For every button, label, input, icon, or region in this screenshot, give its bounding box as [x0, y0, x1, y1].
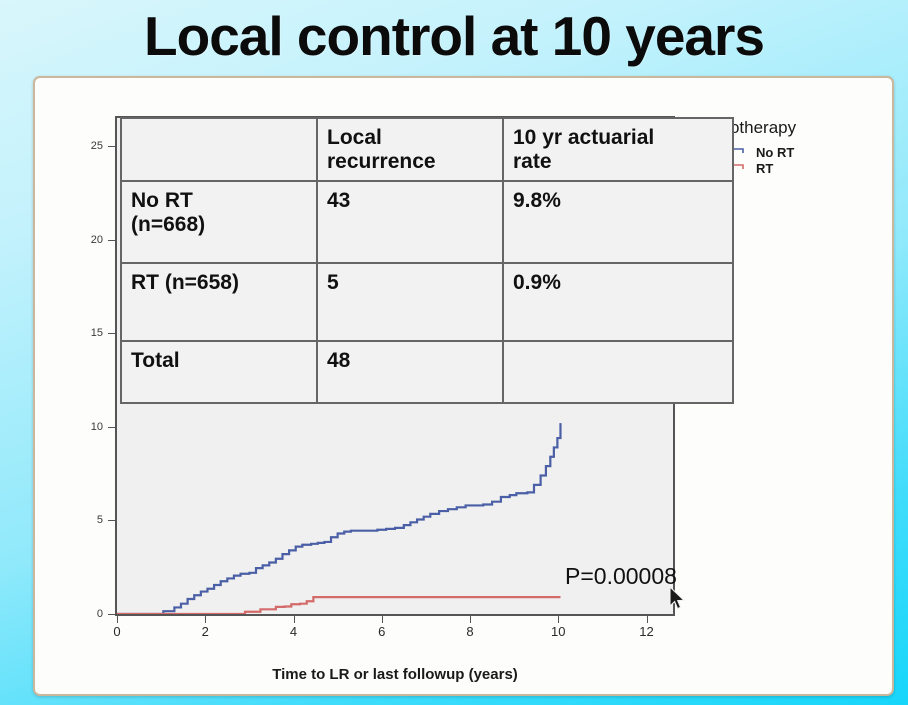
- x-tick-mark: [117, 616, 118, 623]
- header-line-2: recurrence: [327, 150, 436, 173]
- table-header-actuarial-rate: 10 yr actuarial rate: [503, 118, 733, 181]
- row-local-recurrence: 5: [317, 263, 503, 341]
- header-line-1: 10 yr actuarial: [513, 126, 654, 149]
- row-local-recurrence: 48: [317, 341, 503, 403]
- row-actuarial-rate: [503, 341, 733, 403]
- x-tick-label: 0: [104, 624, 130, 639]
- table-header-group: [121, 118, 317, 181]
- y-axis-title: Cumulative failure (%): [33, 196, 34, 333]
- x-tick-label: 8: [457, 624, 483, 639]
- y-tick-label: 25: [77, 140, 103, 152]
- slide-content-card: Cumulative failure (%) 0510152025 024681…: [33, 76, 894, 696]
- y-tick-label: 10: [77, 421, 103, 433]
- p-value-annotation: P=0.00008: [565, 563, 677, 590]
- results-table: Local recurrence 10 yr actuarial rate No…: [120, 117, 734, 404]
- series-line-no-rt: [117, 423, 560, 614]
- x-tick-mark: [647, 616, 648, 623]
- x-tick-label: 4: [281, 624, 307, 639]
- legend-item-label: RT: [756, 161, 773, 176]
- x-tick-label: 6: [369, 624, 395, 639]
- row-group-label: Total: [121, 341, 317, 403]
- y-tick-mark: [108, 240, 115, 241]
- header-line-1: Local: [327, 126, 382, 149]
- x-tick-label: 12: [634, 624, 660, 639]
- mouse-cursor-icon: [669, 586, 687, 612]
- legend-item-label: No RT: [756, 145, 794, 160]
- row-actuarial-rate: 9.8%: [503, 181, 733, 263]
- row-actuarial-rate: 0.9%: [503, 263, 733, 341]
- x-tick-label: 2: [192, 624, 218, 639]
- y-tick-label: 15: [77, 327, 103, 339]
- row-group-label: No RT (n=668): [121, 181, 317, 263]
- table-header-row: Local recurrence 10 yr actuarial rate: [121, 118, 733, 181]
- y-tick-mark: [108, 614, 115, 615]
- page-title: Local control at 10 years: [0, 4, 908, 68]
- table-row: Total 48: [121, 341, 733, 403]
- x-tick-mark: [205, 616, 206, 623]
- group-line-1: No RT: [131, 189, 193, 212]
- row-local-recurrence: 43: [317, 181, 503, 263]
- kaplan-meier-chart: Cumulative failure (%) 0510152025 024681…: [35, 78, 892, 694]
- y-tick-mark: [108, 427, 115, 428]
- legend-item-no-rt: No RT: [717, 145, 885, 160]
- series-line-rt: [117, 597, 560, 614]
- y-tick-mark: [108, 520, 115, 521]
- y-tick-label: 0: [77, 608, 103, 620]
- y-tick-mark: [108, 146, 115, 147]
- x-tick-mark: [294, 616, 295, 623]
- table-header-local-recurrence: Local recurrence: [317, 118, 503, 181]
- x-axis-title: Time to LR or last followup (years): [115, 666, 675, 683]
- table-row: No RT (n=668) 43 9.8%: [121, 181, 733, 263]
- legend-item-rt: RT: [717, 161, 885, 176]
- y-tick-label: 5: [77, 514, 103, 526]
- table-row: RT (n=658) 5 0.9%: [121, 263, 733, 341]
- x-tick-label: 10: [545, 624, 571, 639]
- x-tick-mark: [470, 616, 471, 623]
- y-tick-mark: [108, 333, 115, 334]
- y-tick-label: 20: [77, 234, 103, 246]
- x-tick-mark: [382, 616, 383, 623]
- row-group-label: RT (n=658): [121, 263, 317, 341]
- header-line-2: rate: [513, 150, 552, 173]
- group-line-2: (n=668): [131, 213, 205, 236]
- x-tick-mark: [558, 616, 559, 623]
